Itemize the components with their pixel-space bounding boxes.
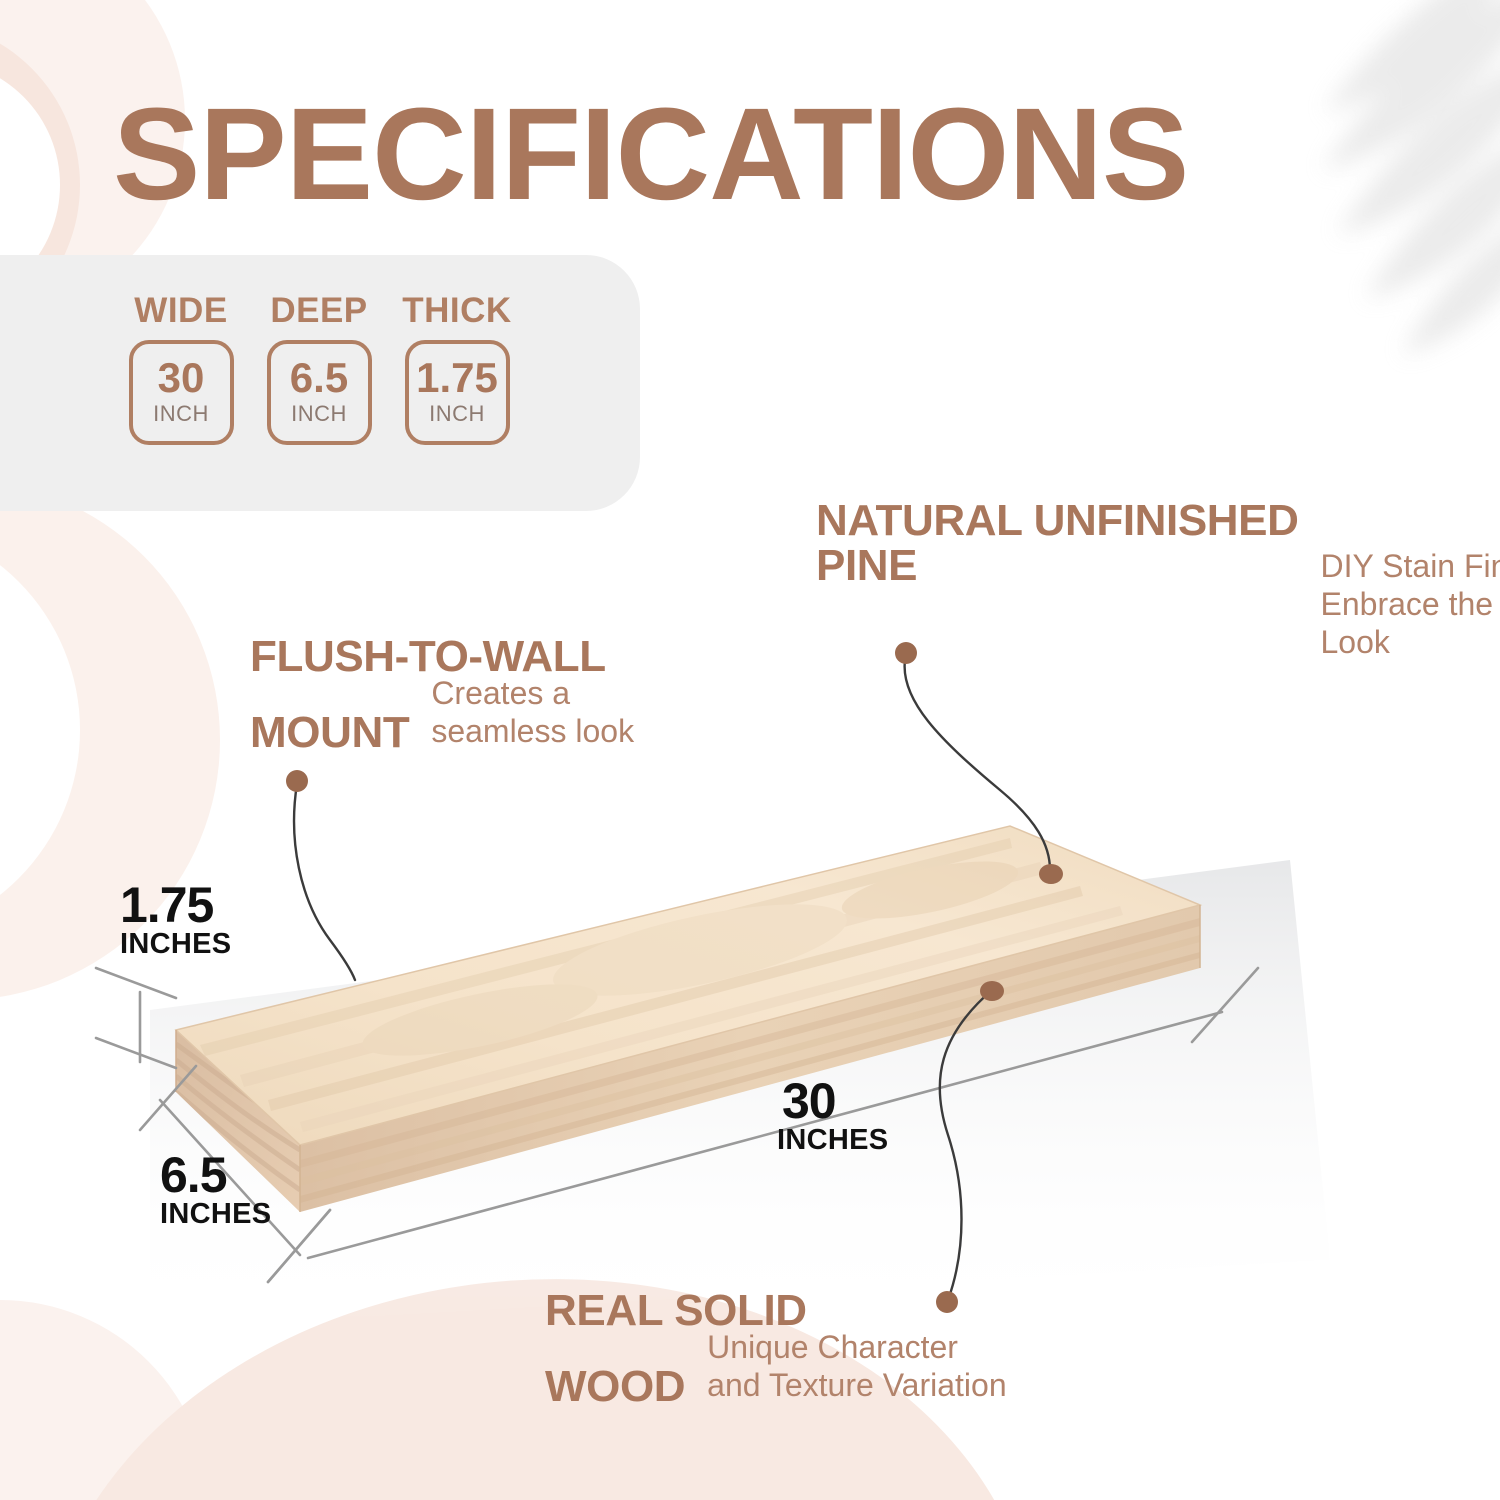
callout-wood-sub-line1: Unique Character: [707, 1329, 1006, 1367]
infographic-canvas: SPECIFICATIONS WIDE 30 INCH DEEP 6.5 INC…: [0, 0, 1500, 1500]
dot-wood-anchor: [980, 981, 1004, 1001]
dimension-label-depth: 6.5 INCHES: [160, 1152, 271, 1231]
connector-flush: [294, 784, 355, 980]
dimension-value-width: 30: [782, 1078, 888, 1124]
callout-wood-sub-line2: and Texture Variation: [707, 1367, 1006, 1405]
callout-flush-heading-line1: FLUSH-TO-WALL: [250, 634, 634, 679]
dimension-label-thickness: 1.75 INCHES: [120, 882, 231, 961]
callout-pine-sub-line1: DIY Stain Finish or: [1321, 548, 1500, 586]
callout-wood-heading-line1: REAL SOLID: [545, 1288, 1007, 1333]
dimension-value-depth: 6.5: [160, 1152, 271, 1198]
dimension-value-thickness: 1.75: [120, 882, 231, 928]
callout-flush-to-wall-mount: FLUSH-TO-WALL MOUNT Creates a seamless l…: [250, 634, 634, 755]
callout-real-solid-wood: REAL SOLID WOOD Unique Character and Tex…: [545, 1288, 1007, 1409]
callout-natural-unfinished-pine: NATURAL UNFINISHED PINE DIY Stain Finish…: [816, 498, 1500, 611]
dimension-unit-thickness: INCHES: [120, 928, 231, 961]
callout-wood-heading-line2: WOOD: [545, 1364, 685, 1409]
dot-flush-label: [286, 770, 308, 792]
callout-pine-heading-line1: NATURAL UNFINISHED: [816, 498, 1299, 543]
callout-flush-subtext: Creates a seamless look: [431, 675, 634, 751]
callout-pine-heading-line2: PINE: [816, 543, 1299, 588]
callout-flush-sub-line2: seamless look: [431, 713, 634, 751]
dimension-unit-width: INCHES: [777, 1124, 888, 1157]
dimension-label-width: 30 INCHES: [782, 1078, 888, 1157]
dot-pine-label: [895, 642, 917, 664]
callout-flush-heading-line2: MOUNT: [250, 710, 409, 755]
callout-wood-subtext: Unique Character and Texture Variation: [707, 1329, 1006, 1405]
dot-pine-anchor: [1039, 864, 1063, 884]
callout-pine-sub-line3: Look: [1321, 624, 1500, 662]
callout-flush-sub-line1: Creates a: [431, 675, 634, 713]
dimension-unit-depth: INCHES: [160, 1198, 271, 1231]
callout-pine-subtext: DIY Stain Finish or Enbrace the Natural …: [1321, 548, 1500, 661]
callout-pine-sub-line2: Enbrace the Natural: [1321, 586, 1500, 624]
product-illustration-overlay: [0, 0, 1500, 1500]
